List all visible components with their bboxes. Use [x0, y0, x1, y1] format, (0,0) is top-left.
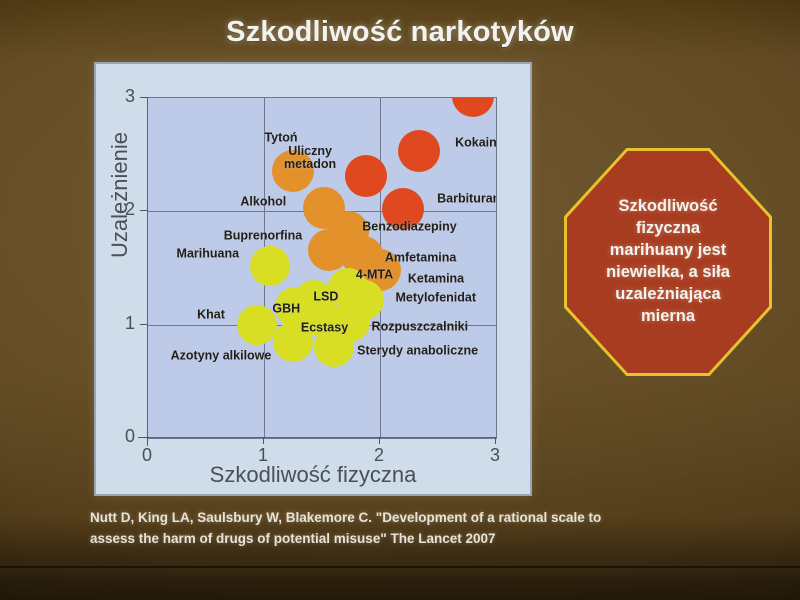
- y-axis-tick-label: 0: [111, 426, 135, 447]
- data-point-label: Ketamina: [408, 273, 464, 286]
- chart-frame: HeroinaKokainaUliczny metadonBarbiturany…: [94, 62, 532, 496]
- x-axis-tick: [379, 437, 380, 444]
- data-point-label: Amfetamina: [385, 251, 457, 264]
- data-point-label: Sterydy anaboliczne: [357, 345, 478, 358]
- data-point-label: Kokaina: [455, 137, 497, 150]
- y-axis-tick: [140, 210, 147, 211]
- plot-area: HeroinaKokainaUliczny metadonBarbiturany…: [147, 97, 497, 439]
- x-axis-tick: [263, 437, 264, 444]
- x-axis-tick: [147, 437, 148, 444]
- x-axis-title: Szkodliwość fizyczna: [96, 462, 530, 488]
- data-point-label: Barbiturany: [437, 193, 497, 206]
- data-point-label: GBH: [272, 302, 300, 315]
- citation-line-2: assess the harm of drugs of potential mi…: [90, 529, 730, 550]
- data-point-label: Ecstasy: [301, 321, 348, 334]
- data-point-label: Benzodiazepiny: [362, 220, 456, 233]
- data-bubble: [250, 246, 290, 286]
- data-point-label: Metylofenidat: [395, 291, 476, 304]
- data-point-label: Khat: [197, 308, 225, 321]
- y-axis-tick: [140, 97, 147, 98]
- data-point-label: Rozpuszczalniki: [372, 321, 469, 334]
- data-point-label: Uliczny metadon: [284, 145, 336, 171]
- data-bubble: [345, 155, 387, 197]
- y-axis-tick: [140, 324, 147, 325]
- y-axis-tick: [140, 437, 147, 438]
- data-point-label: Azotyny alkilowe: [171, 349, 272, 362]
- callout-text: Szkodliwość fizyczna marihuany jest niew…: [596, 196, 740, 328]
- data-point-label: Marihuana: [177, 247, 240, 260]
- page-title: Szkodliwość narkotyków: [0, 16, 800, 49]
- data-point-label: Tytoń: [264, 131, 297, 144]
- y-axis-title: Uzależnienie: [107, 105, 133, 285]
- data-point-label: LSD: [313, 290, 338, 303]
- y-axis-line: [147, 97, 148, 446]
- data-bubble: [398, 130, 440, 172]
- data-bubble: [237, 305, 277, 345]
- data-bubble: [452, 97, 494, 117]
- x-axis-line: [138, 437, 495, 438]
- data-point-label: Alkohol: [240, 195, 286, 208]
- projected-slide: Szkodliwość narkotyków HeroinaKokainaUli…: [0, 0, 800, 600]
- citation: Nutt D, King LA, Saulsbury W, Blakemore …: [90, 508, 730, 550]
- y-axis-tick-label: 3: [111, 86, 135, 107]
- data-point-label: Buprenorfina: [224, 229, 302, 242]
- y-axis-tick-label: 1: [111, 313, 135, 334]
- citation-line-1: Nutt D, King LA, Saulsbury W, Blakemore …: [90, 508, 730, 529]
- bottom-dark-band: [0, 566, 800, 600]
- data-point-label: 4-MTA: [356, 269, 393, 282]
- x-axis-tick: [495, 437, 496, 444]
